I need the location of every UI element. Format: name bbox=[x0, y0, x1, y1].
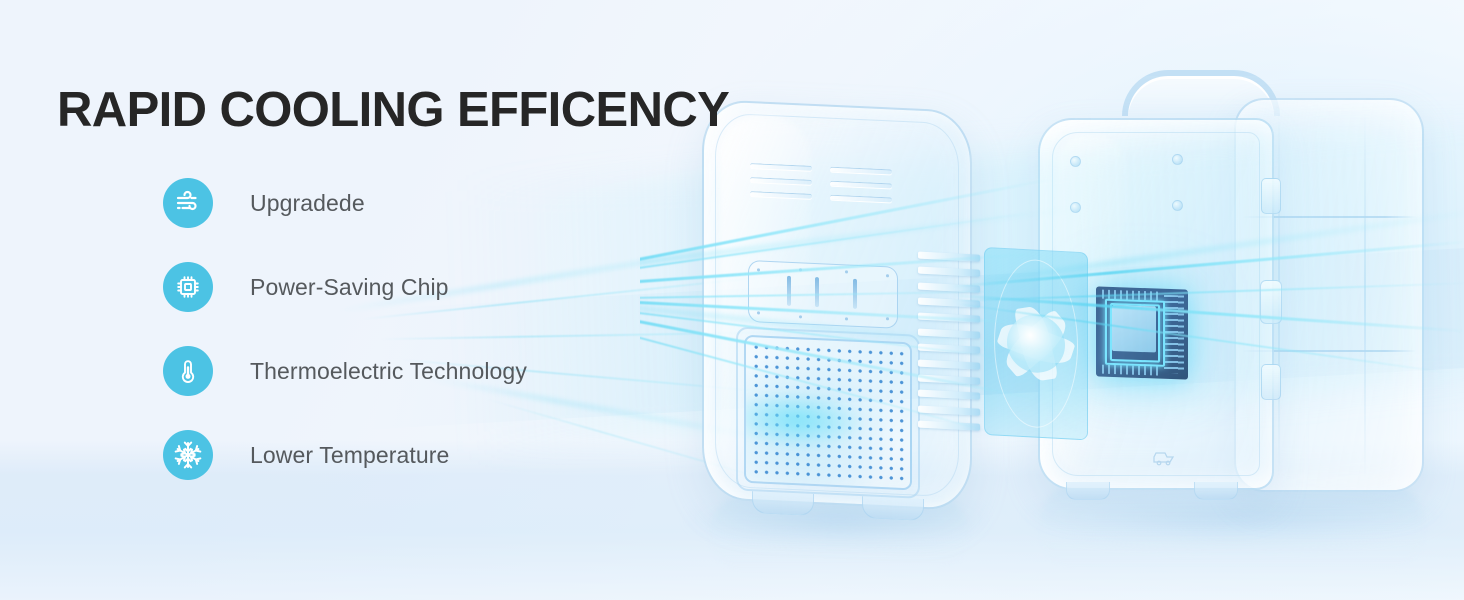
door-hinge-bottom bbox=[1261, 364, 1281, 400]
transparent-cooler-cabinet bbox=[1038, 92, 1428, 504]
snowflake-icon bbox=[163, 430, 213, 480]
feature-label: Thermoelectric Technology bbox=[250, 358, 527, 385]
feature-item-thermoelectric-technology: Thermoelectric Technology bbox=[163, 346, 527, 396]
cabinet-foot-right bbox=[1194, 482, 1238, 500]
feature-list: Upgradede Power-Saving Chip bbox=[163, 178, 527, 480]
page-title: RAPID COOLING EFFICENCY bbox=[57, 86, 729, 135]
cabinet-foot-left bbox=[1066, 482, 1110, 500]
microchip-icon bbox=[163, 262, 213, 312]
airflow-icon bbox=[163, 178, 213, 228]
heatsink-fins bbox=[918, 251, 980, 430]
vent-column-left bbox=[750, 163, 812, 199]
product-scene bbox=[640, 0, 1464, 600]
product-banner: RAPID COOLING EFFICENCY Upgradede bbox=[0, 0, 1464, 600]
feature-item-lower-temperature: Lower Temperature bbox=[163, 430, 527, 480]
door-screw bbox=[1070, 156, 1081, 167]
thermometer-icon bbox=[163, 346, 213, 396]
door-screw bbox=[1172, 200, 1183, 211]
fan-heatsink-assembly bbox=[918, 243, 1090, 442]
feature-label: Power-Saving Chip bbox=[250, 274, 449, 301]
feature-label: Upgradede bbox=[250, 190, 365, 217]
feature-item-power-saving-chip: Power-Saving Chip bbox=[163, 262, 527, 312]
door-screw bbox=[1070, 202, 1081, 213]
door-latch bbox=[1260, 280, 1282, 324]
feature-item-upgradede: Upgradede bbox=[163, 178, 527, 228]
door-hinge-top bbox=[1261, 178, 1281, 214]
panel-foot-left bbox=[752, 491, 814, 516]
cooling-fan bbox=[984, 247, 1088, 440]
door-screw bbox=[1172, 154, 1183, 165]
vent-column-right bbox=[830, 167, 892, 203]
mounting-bracket bbox=[748, 260, 898, 329]
vent-slot-group bbox=[750, 163, 892, 202]
thermoelectric-chip bbox=[1096, 286, 1188, 379]
brand-mark-icon bbox=[1152, 450, 1178, 466]
text-content: RAPID COOLING EFFICENCY Upgradede bbox=[0, 0, 720, 600]
heatsink-dot-grid bbox=[744, 335, 912, 491]
feature-label: Lower Temperature bbox=[250, 442, 449, 469]
panel-foot-right bbox=[862, 496, 924, 521]
